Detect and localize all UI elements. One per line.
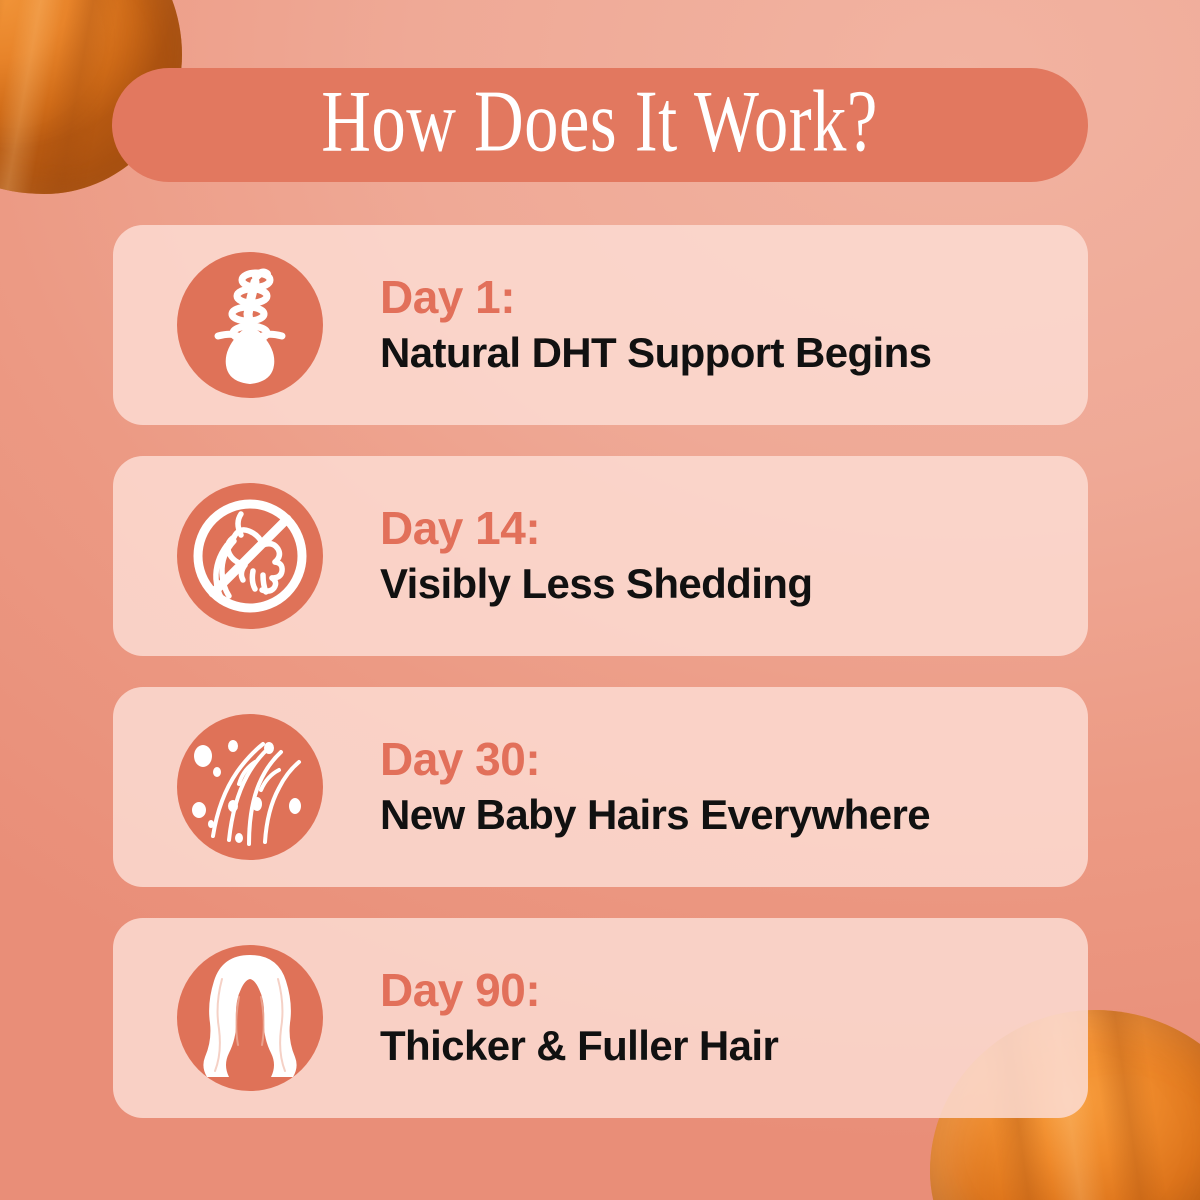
hair-follicle-icon xyxy=(177,252,323,398)
page-title-banner: How Does It Work? xyxy=(112,68,1088,182)
step-day-label: Day 14: xyxy=(380,503,812,555)
step-day-label: Day 90: xyxy=(380,965,778,1017)
page-title: How Does It Work? xyxy=(322,78,879,173)
no-hair-fall-icon xyxy=(177,483,323,629)
step-day-label: Day 30: xyxy=(380,734,930,786)
step-card-day-1[interactable]: Day 1: Natural DHT Support Begins xyxy=(113,225,1088,425)
step-description: Natural DHT Support Begins xyxy=(380,328,931,378)
infographic-canvas: How Does It Work? xyxy=(0,0,1200,1200)
step-text-day-14: Day 14: Visibly Less Shedding xyxy=(380,503,812,609)
step-description: Thicker & Fuller Hair xyxy=(380,1021,778,1071)
step-text-day-1: Day 1: Natural DHT Support Begins xyxy=(380,272,931,378)
new-hair-growth-icon xyxy=(177,714,323,860)
step-card-day-90[interactable]: Day 90: Thicker & Fuller Hair xyxy=(113,918,1088,1118)
long-wavy-hair-icon xyxy=(177,945,323,1091)
step-text-day-30: Day 30: New Baby Hairs Everywhere xyxy=(380,734,930,840)
step-text-day-90: Day 90: Thicker & Fuller Hair xyxy=(380,965,778,1071)
step-card-day-30[interactable]: Day 30: New Baby Hairs Everywhere xyxy=(113,687,1088,887)
step-card-day-14[interactable]: Day 14: Visibly Less Shedding xyxy=(113,456,1088,656)
step-description: New Baby Hairs Everywhere xyxy=(380,790,930,840)
step-description: Visibly Less Shedding xyxy=(380,559,812,609)
step-day-label: Day 1: xyxy=(380,272,931,324)
steps-list: Day 1: Natural DHT Support Begins xyxy=(113,225,1088,1118)
